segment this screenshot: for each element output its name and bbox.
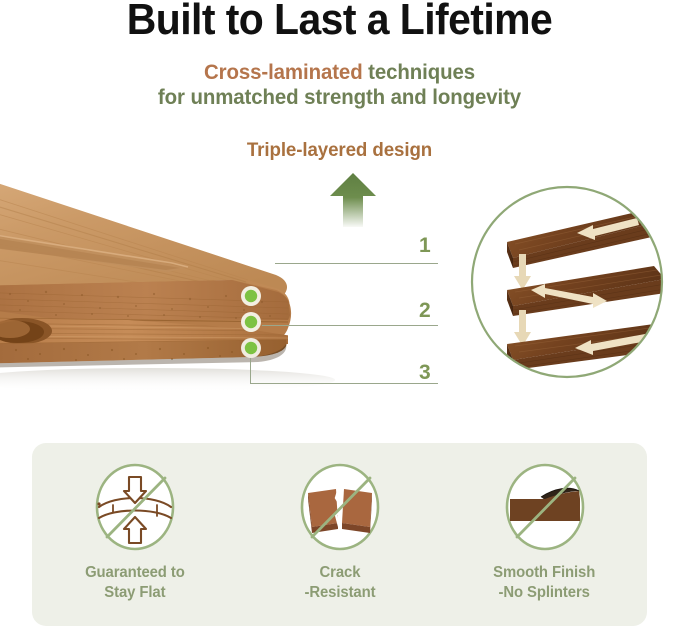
feature-guaranteed-flat: Guaranteed to Stay Flat <box>40 461 230 602</box>
layer-number-2: 2 <box>419 300 431 321</box>
feature-list: Guaranteed to Stay Flat Crack -Resistant <box>32 443 647 626</box>
layer-number-3: 3 <box>419 362 431 383</box>
feature-label-guaranteed-flat: Guaranteed to Stay Flat <box>85 563 185 602</box>
page-title: Built to Last a Lifetime <box>24 0 655 42</box>
subheading-highlight: Cross-laminated <box>204 60 363 84</box>
feature-crack-resistant: Crack -Resistant <box>245 461 435 602</box>
callout-line-2 <box>262 325 438 326</box>
subheading-line-2: for unmatched strength and longevity <box>17 83 662 111</box>
callout-line-3 <box>250 383 438 384</box>
no-warp-icon <box>87 461 183 557</box>
no-crack-icon <box>292 461 388 557</box>
callout-line-1 <box>275 263 438 264</box>
infographic-canvas: Built to Last a Lifetime Cross-laminated… <box>0 0 679 642</box>
feature-label-smooth-finish: Smooth Finish -No Splinters <box>493 563 595 602</box>
subheading-rest: techniques <box>363 60 475 84</box>
layer-marker-dots <box>238 284 264 362</box>
feature-smooth-finish: Smooth Finish -No Splinters <box>450 461 640 602</box>
cross-section-diagram <box>469 184 665 380</box>
no-splinter-icon <box>497 461 593 557</box>
feature-label-crack-resistant: Crack -Resistant <box>304 563 375 602</box>
layer-number-1: 1 <box>419 235 431 256</box>
triple-layer-caption: Triple-layered design <box>14 139 666 162</box>
cutting-board-photo <box>0 168 440 398</box>
